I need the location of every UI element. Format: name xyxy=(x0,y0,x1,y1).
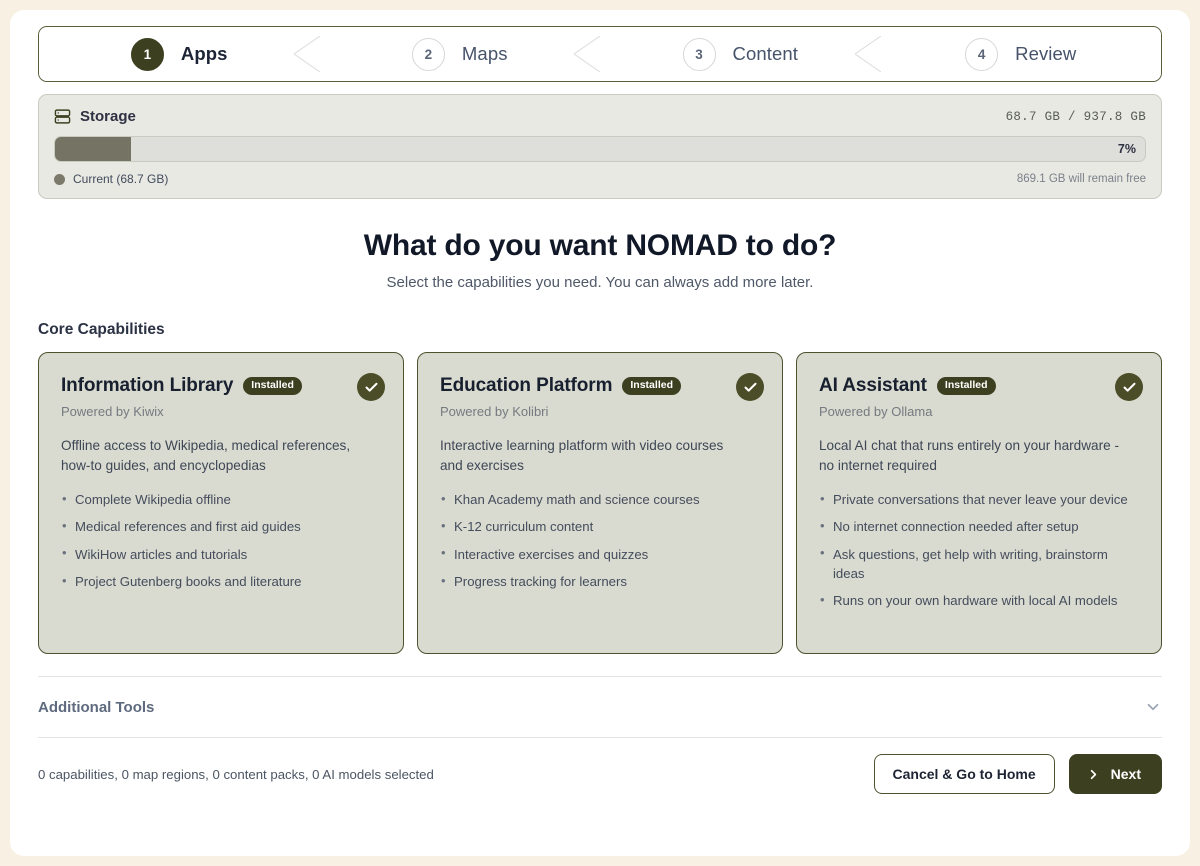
card-subtitle: Powered by Kolibri xyxy=(440,404,760,419)
capability-card-ai-assistant[interactable]: AI Assistant Installed Powered by Ollama… xyxy=(796,352,1162,654)
list-item: Project Gutenberg books and literature xyxy=(61,572,381,591)
card-feature-list: Khan Academy math and science courses K-… xyxy=(440,490,760,591)
list-item: Runs on your own hardware with local AI … xyxy=(819,591,1139,610)
step-review-number: 4 xyxy=(965,38,998,71)
additional-tools-label: Additional Tools xyxy=(38,699,154,716)
storage-remaining-text: 869.1 GB will remain free xyxy=(1017,173,1146,185)
legend-label-current: Current (68.7 GB) xyxy=(73,172,168,186)
wizard-stepper: 1 Apps 2 Maps 3 Content 4 Review xyxy=(38,26,1162,82)
next-button[interactable]: Next xyxy=(1069,754,1162,794)
wizard-page: 1 Apps 2 Maps 3 Content 4 Review xyxy=(10,10,1190,856)
selected-check-icon[interactable] xyxy=(357,373,385,401)
card-description: Interactive learning platform with video… xyxy=(440,436,747,476)
capability-card-education-platform[interactable]: Education Platform Installed Powered by … xyxy=(417,352,783,654)
selection-summary: 0 capabilities, 0 map regions, 0 content… xyxy=(38,767,434,782)
card-header: Information Library Installed xyxy=(61,375,381,397)
storage-panel: Storage 68.7 GB / 937.8 GB 7% Current (6… xyxy=(38,94,1162,199)
step-content[interactable]: 3 Content xyxy=(600,27,881,81)
storage-progress-fill xyxy=(55,137,131,161)
chevron-down-icon[interactable] xyxy=(1144,698,1162,716)
additional-tools-accordion[interactable]: Additional Tools xyxy=(38,677,1162,737)
cancel-button[interactable]: Cancel & Go to Home xyxy=(874,754,1055,794)
legend-dot-current xyxy=(54,174,65,185)
chevron-right-icon xyxy=(1086,767,1101,782)
step-maps-label: Maps xyxy=(462,43,508,65)
list-item: Medical references and first aid guides xyxy=(61,517,381,536)
selected-check-icon[interactable] xyxy=(1115,373,1143,401)
list-item: Progress tracking for learners xyxy=(440,572,760,591)
card-feature-list: Complete Wikipedia offline Medical refer… xyxy=(61,490,381,591)
card-header: AI Assistant Installed xyxy=(819,375,1139,397)
storage-legend: Current (68.7 GB) xyxy=(54,172,168,186)
list-item: No internet connection needed after setu… xyxy=(819,517,1139,536)
core-capabilities-heading: Core Capabilities xyxy=(38,321,1162,339)
next-button-label: Next xyxy=(1111,766,1141,782)
footer-actions: Cancel & Go to Home Next xyxy=(874,754,1163,794)
storage-header: Storage 68.7 GB / 937.8 GB xyxy=(54,108,1146,125)
card-title: Information Library xyxy=(61,375,233,397)
card-subtitle: Powered by Kiwix xyxy=(61,404,381,419)
storage-icon xyxy=(54,108,71,125)
step-content-number: 3 xyxy=(683,38,716,71)
storage-total-text: 68.7 GB / 937.8 GB xyxy=(1006,110,1146,124)
step-maps[interactable]: 2 Maps xyxy=(320,27,601,81)
step-maps-number: 2 xyxy=(412,38,445,71)
step-content-label: Content xyxy=(733,43,799,65)
wizard-footer: 0 capabilities, 0 map regions, 0 content… xyxy=(38,737,1162,794)
status-badge: Installed xyxy=(937,377,996,395)
status-badge: Installed xyxy=(243,377,302,395)
card-header: Education Platform Installed xyxy=(440,375,760,397)
storage-footer: Current (68.7 GB) 869.1 GB will remain f… xyxy=(54,172,1146,186)
app-window: 1 Apps 2 Maps 3 Content 4 Review xyxy=(10,10,1190,856)
hero-section: What do you want NOMAD to do? Select the… xyxy=(38,229,1162,291)
card-subtitle: Powered by Ollama xyxy=(819,404,1139,419)
step-review-label: Review xyxy=(1015,43,1076,65)
page-title: What do you want NOMAD to do? xyxy=(38,229,1162,263)
list-item: K-12 curriculum content xyxy=(440,517,760,536)
card-description: Local AI chat that runs entirely on your… xyxy=(819,436,1126,476)
list-item: Khan Academy math and science courses xyxy=(440,490,760,509)
capability-card-grid: Information Library Installed Powered by… xyxy=(38,352,1162,654)
card-feature-list: Private conversations that never leave y… xyxy=(819,490,1139,610)
card-description: Offline access to Wikipedia, medical ref… xyxy=(61,436,368,476)
step-apps-label: Apps xyxy=(181,43,228,65)
step-review[interactable]: 4 Review xyxy=(881,27,1162,81)
list-item: Interactive exercises and quizzes xyxy=(440,545,760,564)
card-title: Education Platform xyxy=(440,375,612,397)
storage-title-label: Storage xyxy=(80,108,136,125)
page-subtitle: Select the capabilities you need. You ca… xyxy=(38,274,1162,291)
status-badge: Installed xyxy=(622,377,681,395)
capability-card-information-library[interactable]: Information Library Installed Powered by… xyxy=(38,352,404,654)
card-title: AI Assistant xyxy=(819,375,927,397)
storage-percent-label: 7% xyxy=(1118,137,1136,161)
list-item: Private conversations that never leave y… xyxy=(819,490,1139,509)
list-item: Ask questions, get help with writing, br… xyxy=(819,545,1139,584)
step-apps[interactable]: 1 Apps xyxy=(39,27,320,81)
selected-check-icon[interactable] xyxy=(736,373,764,401)
step-apps-number: 1 xyxy=(131,38,164,71)
storage-title: Storage xyxy=(54,108,136,125)
list-item: Complete Wikipedia offline xyxy=(61,490,381,509)
list-item: WikiHow articles and tutorials xyxy=(61,545,381,564)
storage-progress-bar: 7% xyxy=(54,136,1146,162)
